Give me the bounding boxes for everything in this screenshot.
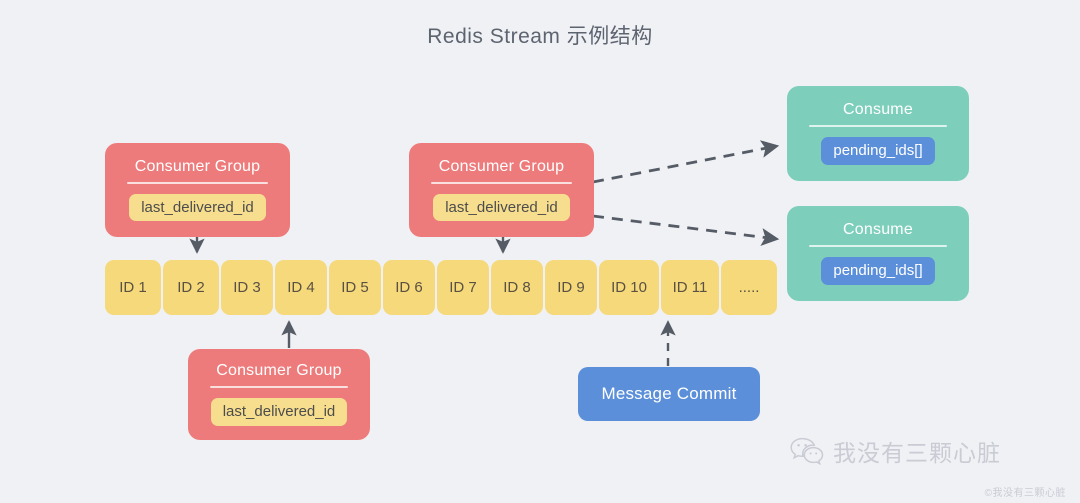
stream-entry-cell[interactable]: ID 4 <box>275 260 327 315</box>
arrow-cg2-to-consume-2 <box>593 216 777 239</box>
stream-entry-cell[interactable]: ID 11 <box>661 260 719 315</box>
stream-entry-cell[interactable]: ID 3 <box>221 260 273 315</box>
stream-entries-strip: ID 1ID 2ID 3ID 4ID 5ID 6ID 7ID 8ID 9ID 1… <box>105 260 777 315</box>
card-divider <box>210 386 348 388</box>
consumer-group-card-2[interactable]: Consumer Group last_delivered_id <box>409 143 594 237</box>
card-divider <box>127 182 268 184</box>
stream-entry-cell[interactable]: ID 7 <box>437 260 489 315</box>
stream-entry-cell[interactable]: ID 6 <box>383 260 435 315</box>
last-delivered-id-pill[interactable]: last_delivered_id <box>211 398 348 426</box>
watermark: 我没有三颗心脏 <box>790 434 1001 468</box>
stream-entry-cell[interactable]: ID 9 <box>545 260 597 315</box>
watermark-copyright: ©我没有三颗心脏 <box>985 484 1066 499</box>
stream-entry-cell[interactable]: ID 5 <box>329 260 381 315</box>
wechat-icon <box>790 437 824 465</box>
stream-entry-cell[interactable]: ID 10 <box>599 260 659 315</box>
stream-entry-cell[interactable]: ..... <box>721 260 777 315</box>
stream-entry-cell[interactable]: ID 1 <box>105 260 161 315</box>
consume-title: Consume <box>843 102 913 118</box>
last-delivered-id-pill[interactable]: last_delivered_id <box>433 194 570 222</box>
last-delivered-id-pill[interactable]: last_delivered_id <box>129 194 266 222</box>
consumer-group-card-3[interactable]: Consumer Group last_delivered_id <box>188 349 370 440</box>
message-commit-card[interactable]: Message Commit <box>578 367 760 421</box>
card-divider <box>809 125 947 127</box>
consumer-group-title: Consumer Group <box>216 363 342 379</box>
consume-title: Consume <box>843 222 913 238</box>
consume-card-1[interactable]: Consume pending_ids[] <box>787 86 969 181</box>
card-divider <box>431 182 572 184</box>
watermark-name: 我没有三颗心脏 <box>833 434 1001 468</box>
page-title: Redis Stream 示例结构 <box>0 20 1080 50</box>
arrow-cg2-to-consume-1 <box>593 146 777 182</box>
pending-ids-pill[interactable]: pending_ids[] <box>821 257 934 285</box>
pending-ids-pill[interactable]: pending_ids[] <box>821 137 934 165</box>
stream-entry-cell[interactable]: ID 2 <box>163 260 219 315</box>
stream-entry-cell[interactable]: ID 8 <box>491 260 543 315</box>
consumer-group-card-1[interactable]: Consumer Group last_delivered_id <box>105 143 290 237</box>
consume-card-2[interactable]: Consume pending_ids[] <box>787 206 969 301</box>
consumer-group-title: Consumer Group <box>439 159 565 175</box>
message-commit-label: Message Commit <box>601 384 736 404</box>
consumer-group-title: Consumer Group <box>135 159 261 175</box>
diagram-canvas: Redis Stream 示例结构 <box>0 0 1080 503</box>
card-divider <box>809 245 947 247</box>
